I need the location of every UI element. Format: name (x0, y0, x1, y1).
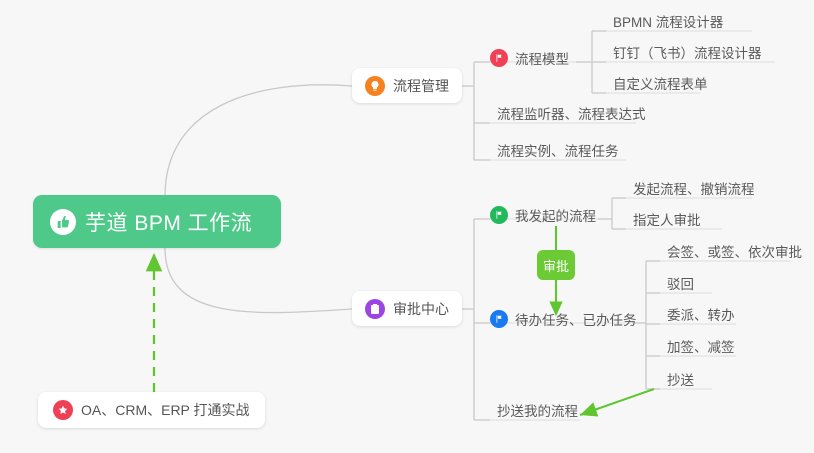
child-node-flow-instance[interactable]: 流程实例、流程任务 (490, 143, 626, 165)
leaf-label: 委派、转办 (667, 308, 735, 323)
leaf-start-cancel-flow[interactable]: 发起流程、撤销流程 (626, 181, 762, 203)
footnote-label: OA、CRM、ERP 打通实战 (81, 400, 250, 420)
root-node[interactable]: 芋道 BPM 工作流 (33, 195, 281, 248)
child-node-cc-to-me[interactable]: 抄送我的流程 (490, 403, 585, 425)
leaf-reject[interactable]: 驳回 (660, 276, 701, 298)
arrow-cc-to-ccme (580, 389, 654, 415)
leaf-dingtalk-designer[interactable]: 钉钉（飞书）流程设计器 (606, 45, 769, 67)
thumbs-up-icon (50, 209, 76, 235)
mindmap-canvas: 芋道 BPM 工作流 流程管理 流程模型 BPMN 流程设计器 钉钉（飞书）流程… (0, 0, 814, 453)
leaf-label: BPMN 流程设计器 (613, 15, 723, 30)
branch-label-flow-management: 流程管理 (393, 76, 449, 96)
child-node-my-started-flows[interactable]: 我发起的流程 (490, 205, 596, 230)
leaf-label: 钉钉（飞书）流程设计器 (613, 46, 762, 61)
child-label-todo-done-tasks: 待办任务、已办任务 (515, 309, 637, 329)
star-icon (53, 400, 73, 420)
footnote-node-integration[interactable]: OA、CRM、ERP 打通实战 (38, 392, 265, 428)
leaf-label: 会签、或签、依次审批 (667, 245, 802, 260)
clipboard-icon (365, 299, 385, 319)
child-node-flow-listener[interactable]: 流程监听器、流程表达式 (490, 106, 653, 128)
leaf-label: 自定义流程表单 (613, 77, 708, 92)
lightbulb-icon (365, 76, 385, 96)
root-label: 芋道 BPM 工作流 (85, 207, 252, 237)
child-node-todo-done-tasks[interactable]: 待办任务、已办任务 (490, 309, 637, 334)
leaf-countersign[interactable]: 会签、或签、依次审批 (660, 244, 809, 266)
annotation-badge-approve: 审批 (537, 250, 575, 280)
child-label-flow-model: 流程模型 (515, 48, 569, 68)
branch-node-flow-management[interactable]: 流程管理 (352, 68, 462, 103)
leaf-label: 发起流程、撤销流程 (633, 182, 755, 197)
leaf-add-remove-sign[interactable]: 加签、减签 (660, 339, 742, 361)
leaf-cc[interactable]: 抄送 (660, 372, 701, 394)
leaf-custom-form[interactable]: 自定义流程表单 (606, 76, 715, 98)
child-label-my-started-flows: 我发起的流程 (515, 205, 596, 225)
leaf-label: 加签、减签 (667, 340, 735, 355)
wire-root-to-approval-center (165, 248, 352, 313)
leaf-bpmn-designer[interactable]: BPMN 流程设计器 (606, 14, 730, 36)
branch-node-approval-center[interactable]: 审批中心 (352, 291, 462, 326)
annotation-badge-label: 审批 (543, 256, 569, 275)
branch-label-approval-center: 审批中心 (393, 299, 449, 319)
wire-root-to-flow-management (165, 85, 352, 196)
leaf-delegate-transfer[interactable]: 委派、转办 (660, 307, 742, 329)
child-label: 流程实例、流程任务 (497, 144, 619, 159)
flag-icon (490, 49, 508, 67)
child-label: 流程监听器、流程表达式 (497, 107, 646, 122)
leaf-label: 指定人审批 (633, 213, 701, 228)
leaf-assignee-approval[interactable]: 指定人审批 (626, 212, 708, 234)
flag-icon (490, 206, 508, 224)
leaf-label: 抄送 (667, 373, 694, 388)
child-node-flow-model[interactable]: 流程模型 (490, 48, 569, 73)
child-label: 抄送我的流程 (497, 404, 578, 419)
flag-icon (490, 310, 508, 328)
leaf-label: 驳回 (667, 277, 694, 292)
